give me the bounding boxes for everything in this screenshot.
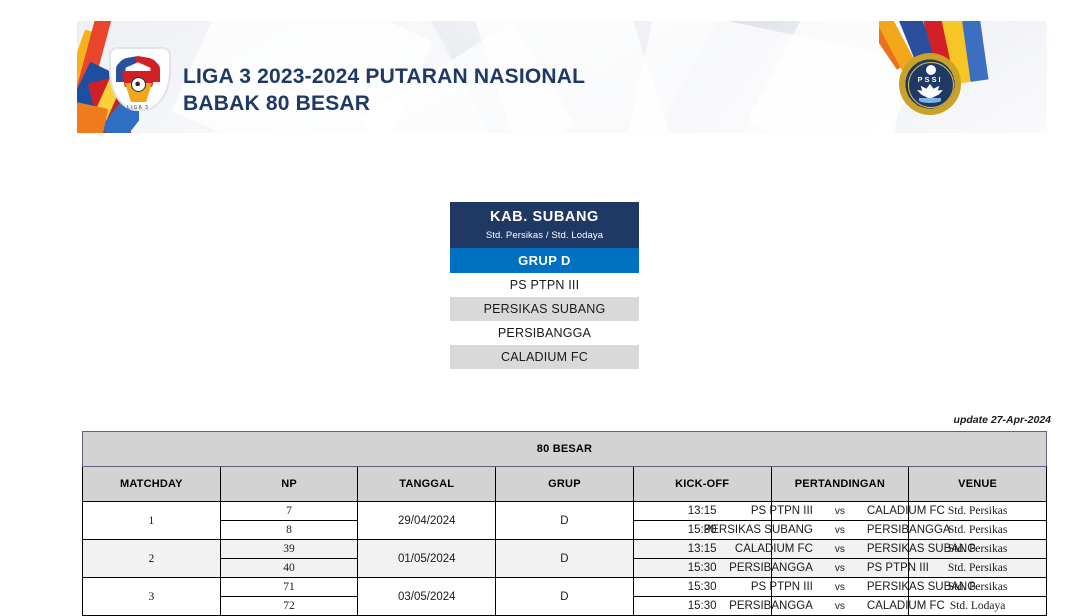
cell-np: 71 <box>220 578 358 597</box>
tournament-banner: LIGA 3 LIGA 3 2023-2024 PUTARAN NASIONAL… <box>77 21 1047 133</box>
table-body: 1 7 29/04/2024 D 13:15 PS PTPN III vs CA… <box>83 502 1047 616</box>
cell-home-team: PERSIBANGGA <box>599 562 823 574</box>
cell-match: PERSIBANGGA vs CALADIUM FC <box>771 597 909 616</box>
group-team-item: PERSIBANGGA <box>450 321 639 345</box>
vs-label: vs <box>823 582 857 593</box>
update-note: update 27-Apr-2024 <box>954 414 1051 426</box>
table-row: 2 39 01/05/2024 D 13:15 CALADIUM FC vs P… <box>83 540 1047 559</box>
table-band-row: 80 BESAR <box>83 432 1047 467</box>
cell-np: 7 <box>220 502 358 521</box>
table-band-title: 80 BESAR <box>83 432 1047 467</box>
cell-home-team: PS PTPN III <box>599 505 823 517</box>
col-header-matchday: MATCHDAY <box>83 467 221 502</box>
col-header-venue: VENUE <box>909 467 1047 502</box>
col-header-tanggal: TANGGAL <box>358 467 496 502</box>
cell-home-team: PS PTPN III <box>599 581 823 593</box>
cell-date: 01/05/2024 <box>358 540 496 578</box>
group-team-item: PS PTPN III <box>450 273 639 297</box>
cell-np: 8 <box>220 521 358 540</box>
group-team-item: CALADIUM FC <box>450 345 639 369</box>
cell-home-team: PERSIBANGGA <box>599 600 823 612</box>
col-header-pertandingan: PERTANDINGAN <box>771 467 909 502</box>
liga3-crest-icon: LIGA 3 <box>105 47 171 117</box>
cell-matchday: 3 <box>83 578 221 616</box>
group-card-stadiums: Std. Persikas / Std. Lodaya <box>450 228 639 248</box>
group-team-item: PERSIKAS SUBANG <box>450 297 639 321</box>
group-card-city: KAB. SUBANG <box>450 202 639 228</box>
cell-home-team: PERSIKAS SUBANG <box>599 524 823 536</box>
vs-label: vs <box>823 506 857 517</box>
cell-match: PERSIBANGGA vs PS PTPN III <box>771 559 909 578</box>
table-row: 3 71 03/05/2024 D 15:30 PS PTPN III vs P… <box>83 578 1047 597</box>
pssi-logo-label: PSSI <box>899 75 961 84</box>
cell-matchday: 1 <box>83 502 221 540</box>
cell-np: 72 <box>220 597 358 616</box>
col-header-kickoff: KICK-OFF <box>633 467 771 502</box>
vs-label: vs <box>823 601 857 612</box>
cell-date: 29/04/2024 <box>358 502 496 540</box>
cell-match: PS PTPN III vs PERSIKAS SUBANG <box>771 578 909 597</box>
banner-title: LIGA 3 2023-2024 PUTARAN NASIONAL BABAK … <box>183 63 585 117</box>
cell-match: CALADIUM FC vs PERSIKAS SUBANG <box>771 540 909 559</box>
group-card-group-label: GRUP D <box>450 248 639 273</box>
cell-np: 39 <box>220 540 358 559</box>
cell-np: 40 <box>220 559 358 578</box>
cell-date: 03/05/2024 <box>358 578 496 616</box>
group-card: KAB. SUBANG Std. Persikas / Std. Lodaya … <box>450 202 639 369</box>
table-row: 1 7 29/04/2024 D 13:15 PS PTPN III vs CA… <box>83 502 1047 521</box>
vs-label: vs <box>823 563 857 574</box>
cell-match: PERSIKAS SUBANG vs PERSIBANGGA <box>771 521 909 540</box>
vs-label: vs <box>823 525 857 536</box>
liga3-crest-label: LIGA 3 <box>105 105 171 111</box>
pssi-logo-icon: PSSI <box>899 53 961 115</box>
col-header-np: NP <box>220 467 358 502</box>
table-header-row: MATCHDAY NP TANGGAL GRUP KICK-OFF PERTAN… <box>83 467 1047 502</box>
vs-label: vs <box>823 544 857 555</box>
col-header-grup: GRUP <box>496 467 634 502</box>
schedule-table: 80 BESAR MATCHDAY NP TANGGAL GRUP KICK-O… <box>82 431 1047 616</box>
cell-home-team: CALADIUM FC <box>599 543 823 555</box>
cell-matchday: 2 <box>83 540 221 578</box>
cell-match: PS PTPN III vs CALADIUM FC <box>771 502 909 521</box>
